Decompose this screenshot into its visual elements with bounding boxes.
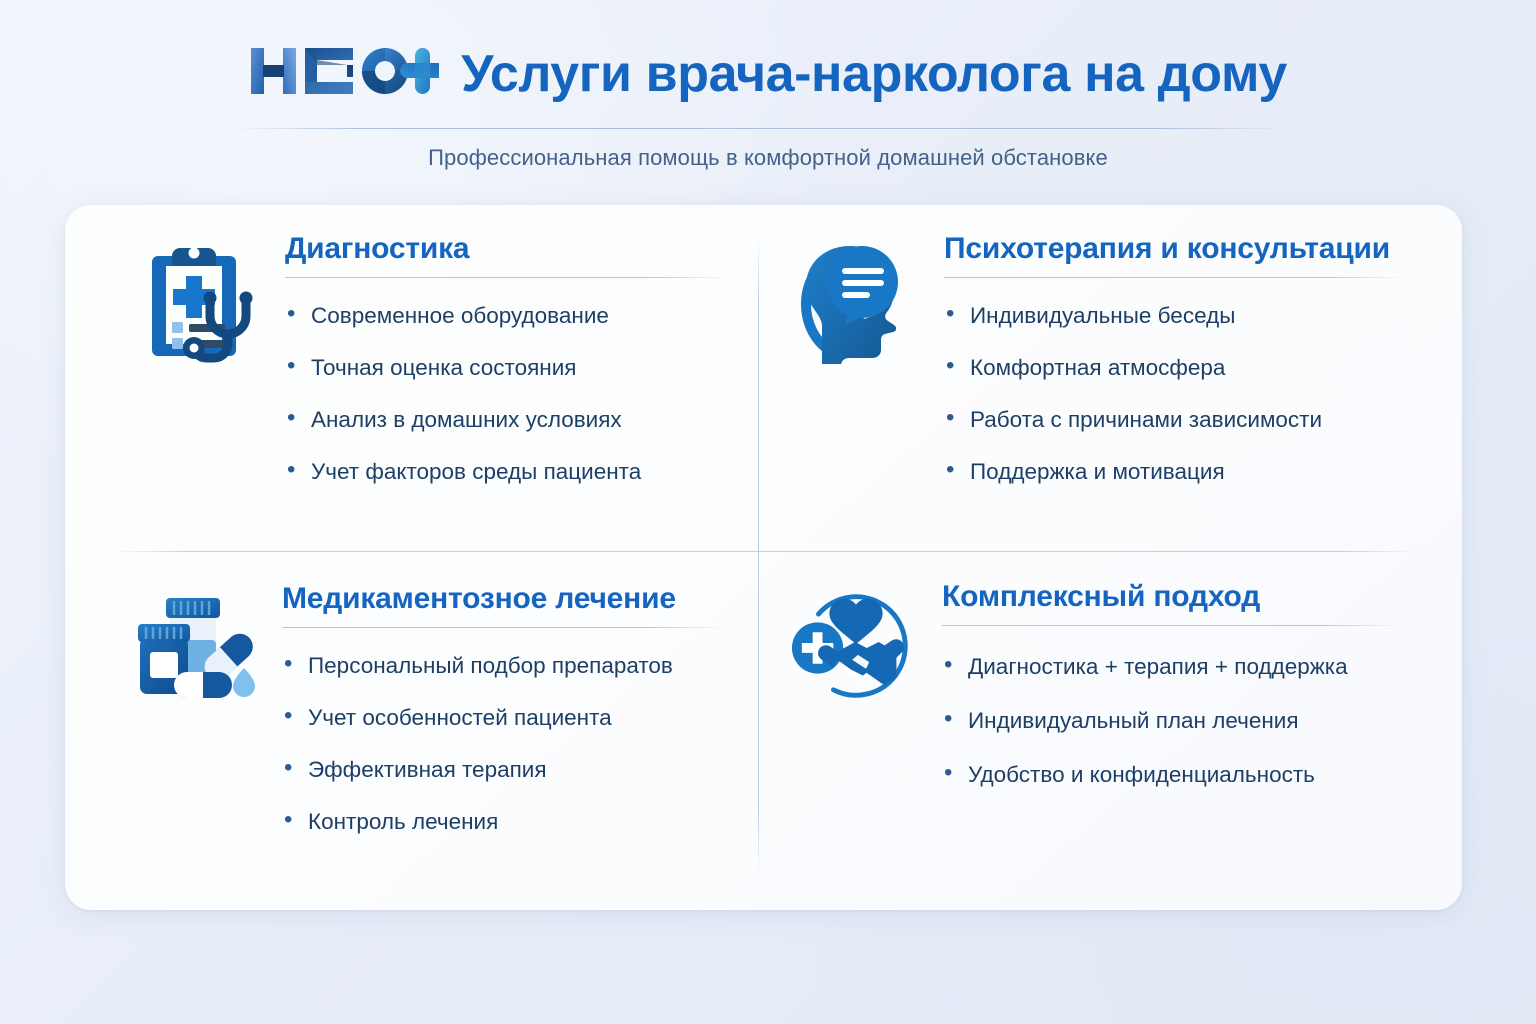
section-medication: Медикаментозное лечение Персональный под… <box>130 582 730 835</box>
page-title: Услуги врача-нарколога на дому <box>461 48 1287 100</box>
list-item: Индивидуальные беседы <box>944 302 1412 329</box>
pill-bottles-capsule-icon <box>130 582 262 706</box>
section-title: Медикаментозное лечение <box>282 582 730 616</box>
bullet-list: Диагностика + терапия + поддержка Индиви… <box>942 653 1410 788</box>
list-item: Современное оборудование <box>285 302 733 329</box>
section-body: Диагностика Современное оборудование Точ… <box>265 232 733 485</box>
section-title: Психотерапия и консультации <box>944 232 1412 266</box>
list-item: Точная оценка состояния <box>285 354 733 381</box>
page-subtitle: Профессиональная помощь в комфортной дом… <box>0 145 1536 171</box>
brand-row: Услуги врача-нарколога на дому <box>0 40 1536 107</box>
section-diagnostics: Диагностика Современное оборудование Точ… <box>133 232 733 485</box>
list-item: Индивидуальный план лечения <box>942 707 1410 734</box>
section-title-rule <box>285 277 729 278</box>
list-item: Комфортная атмосфера <box>944 354 1412 381</box>
list-item: Учет особенностей пациента <box>282 704 730 731</box>
neo-plus-logo-icon <box>249 40 439 107</box>
list-item: Анализ в домашних условиях <box>285 406 733 433</box>
clipboard-stethoscope-icon <box>133 232 265 366</box>
list-item: Удобство и конфиденциальность <box>942 761 1410 788</box>
head-speech-bubble-icon <box>792 232 924 364</box>
list-item: Диагностика + терапия + поддержка <box>942 653 1410 680</box>
list-item: Учет факторов среды пациента <box>285 458 733 485</box>
section-psychotherapy: Психотерапия и консультации Индивидуальн… <box>792 232 1412 485</box>
bullet-list: Индивидуальные беседы Комфортная атмосфе… <box>944 302 1412 485</box>
vertical-divider <box>758 237 759 875</box>
bullet-list: Современное оборудование Точная оценка с… <box>285 302 733 485</box>
list-item: Контроль лечения <box>282 808 730 835</box>
heart-handshake-cross-icon <box>790 580 922 704</box>
section-title: Диагностика <box>285 232 733 266</box>
horizontal-divider <box>110 551 1420 552</box>
section-body: Медикаментозное лечение Персональный под… <box>262 582 730 835</box>
list-item: Персональный подбор препаратов <box>282 652 730 679</box>
section-title-rule <box>944 277 1404 278</box>
list-item: Поддержка и мотивация <box>944 458 1412 485</box>
header-divider <box>232 128 1287 129</box>
list-item: Эффективная терапия <box>282 756 730 783</box>
section-title-rule <box>942 625 1402 626</box>
section-title-rule <box>282 627 726 628</box>
bullet-list: Персональный подбор препаратов Учет особ… <box>282 652 730 835</box>
section-title: Комплексный подход <box>942 580 1410 614</box>
section-complex-approach: Комплексный подход Диагностика + терапия… <box>790 580 1410 815</box>
page-header: Услуги врача-нарколога на дому Профессио… <box>0 0 1536 205</box>
section-body: Психотерапия и консультации Индивидуальн… <box>924 232 1412 485</box>
list-item: Работа с причинами зависимости <box>944 406 1412 433</box>
section-body: Комплексный подход Диагностика + терапия… <box>922 580 1410 815</box>
